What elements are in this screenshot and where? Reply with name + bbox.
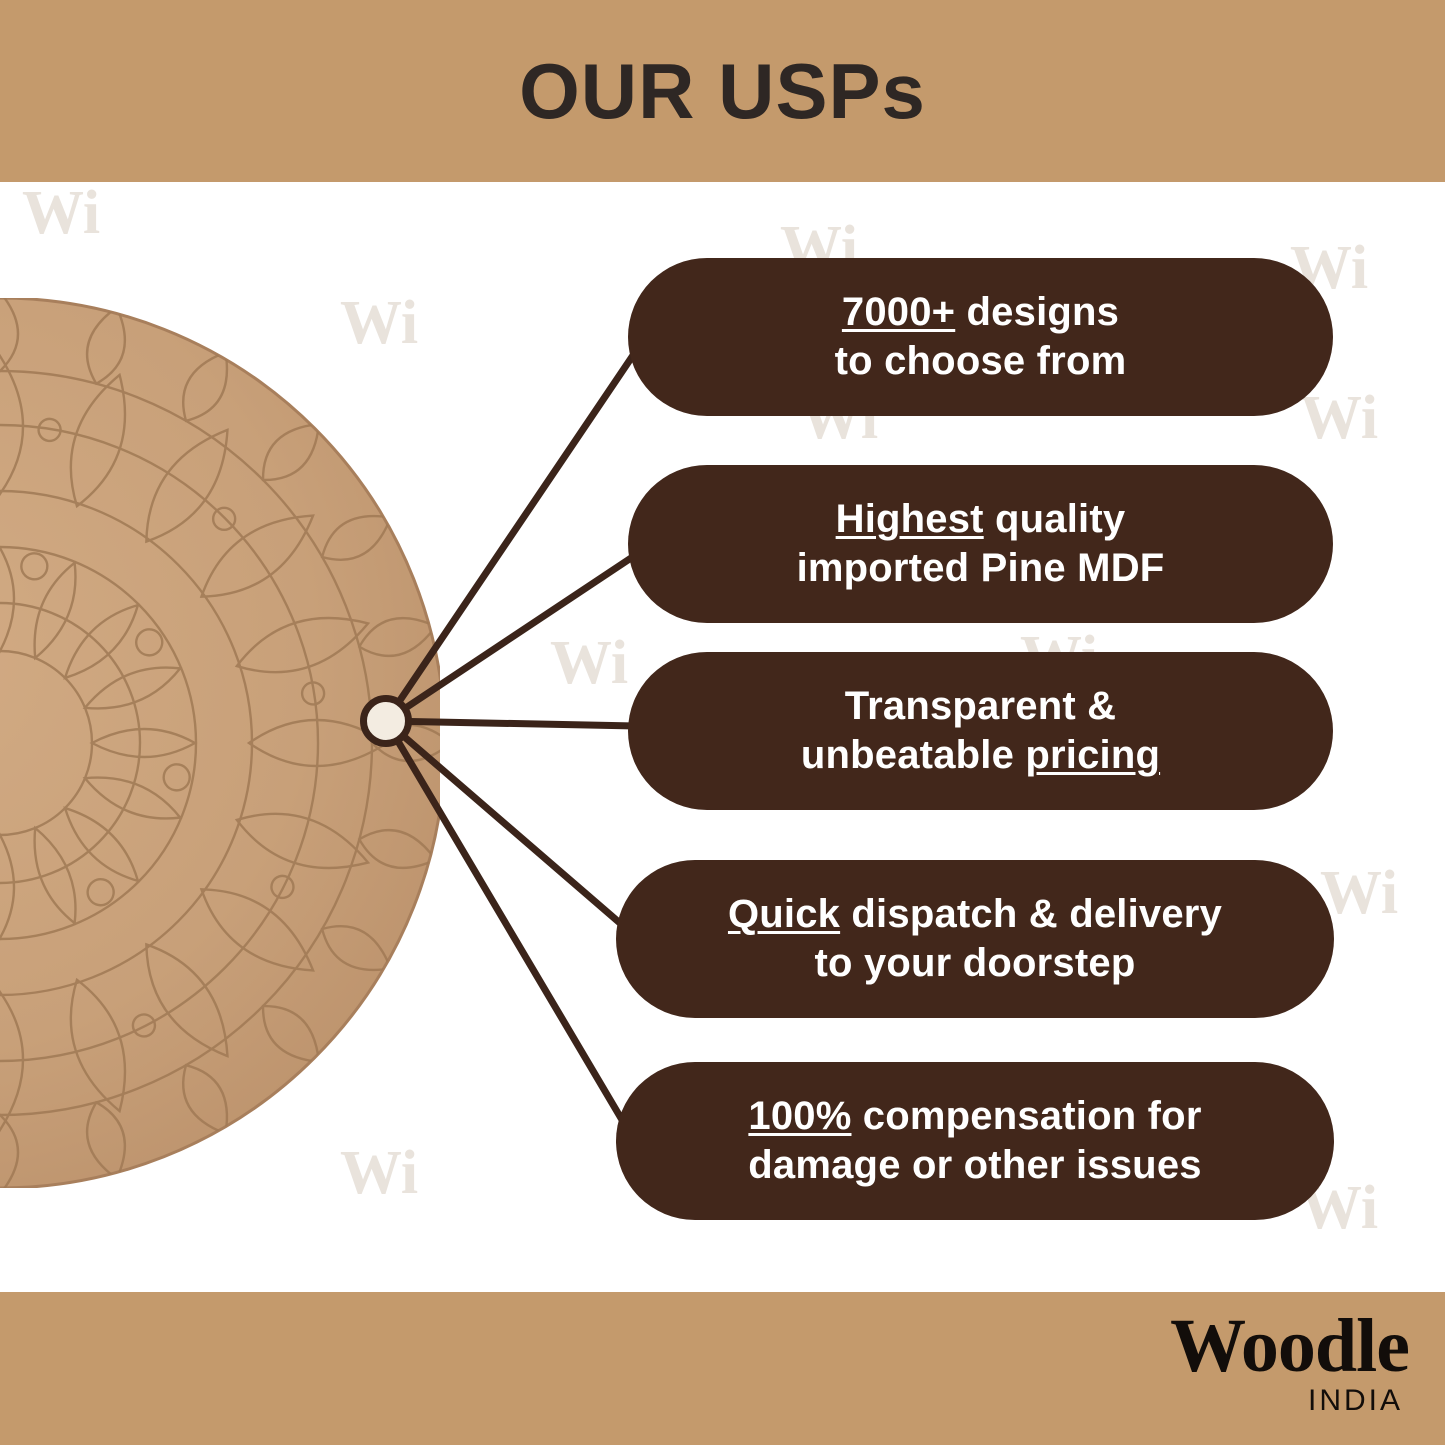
brand-subtitle: INDIA bbox=[1019, 1384, 1403, 1418]
usp-5-line1-rest: compensation for bbox=[851, 1094, 1201, 1138]
infographic-canvas: OUR USPs Wi Wi Wi Wi Wi Wi Wi Wi Wi Wi W… bbox=[0, 0, 1445, 1445]
usp-5-highlight: 100% bbox=[748, 1094, 851, 1138]
brand-name: Woodle bbox=[1019, 1310, 1409, 1382]
usp-4-highlight: Quick bbox=[728, 892, 840, 936]
brand-logo: Woodle INDIA bbox=[1019, 1310, 1409, 1418]
usp-pill-2-text: Highest quality imported Pine MDF bbox=[797, 495, 1165, 593]
usp-pill-4-text: Quick dispatch & delivery to your doorst… bbox=[728, 890, 1222, 988]
usp-4-line1-rest: dispatch & delivery bbox=[840, 892, 1222, 936]
header-band: OUR USPs bbox=[0, 0, 1445, 182]
watermark-text: Wi bbox=[1320, 862, 1398, 924]
usp-3-highlight: pricing bbox=[1025, 733, 1160, 777]
page-title: OUR USPs bbox=[0, 0, 1445, 182]
watermark-text: Wi bbox=[1300, 387, 1378, 449]
usp-1-line1-rest: designs bbox=[955, 290, 1119, 334]
usp-pill-2[interactable]: Highest quality imported Pine MDF bbox=[628, 465, 1333, 623]
usp-pill-3[interactable]: Transparent & unbeatable pricing bbox=[628, 652, 1333, 810]
usp-2-line2: imported Pine MDF bbox=[797, 546, 1165, 590]
watermark-text: Wi bbox=[550, 632, 628, 694]
usp-pill-5-text: 100% compensation for damage or other is… bbox=[748, 1092, 1201, 1190]
usp-pill-5[interactable]: 100% compensation for damage or other is… bbox=[616, 1062, 1334, 1220]
usp-3-line1: Transparent & bbox=[845, 684, 1117, 728]
usp-pill-1[interactable]: 7000+ designs to choose from bbox=[628, 258, 1333, 416]
usp-pill-1-text: 7000+ designs to choose from bbox=[835, 288, 1127, 386]
usp-pill-3-text: Transparent & unbeatable pricing bbox=[801, 682, 1160, 780]
usp-3-line2-pre: unbeatable bbox=[801, 733, 1025, 777]
usp-2-line1-rest: quality bbox=[984, 497, 1126, 541]
watermark-text: Wi bbox=[22, 182, 100, 244]
hub-node bbox=[360, 695, 412, 747]
usp-5-line2: damage or other issues bbox=[748, 1143, 1201, 1187]
usp-4-line2: to your doorstep bbox=[815, 941, 1136, 985]
usp-pill-4[interactable]: Quick dispatch & delivery to your doorst… bbox=[616, 860, 1334, 1018]
usp-1-line2: to choose from bbox=[835, 339, 1127, 383]
usp-2-highlight: Highest bbox=[836, 497, 984, 541]
usp-1-highlight: 7000+ bbox=[842, 290, 955, 334]
